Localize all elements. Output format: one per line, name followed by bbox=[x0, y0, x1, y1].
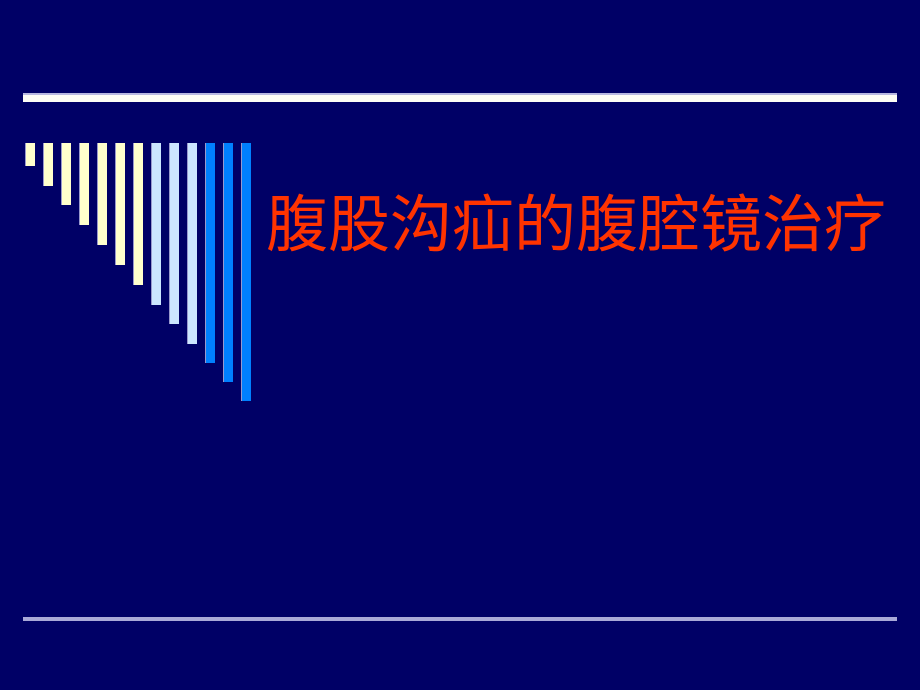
decoration-bar bbox=[115, 143, 125, 265]
decoration-bar bbox=[241, 143, 251, 401]
decoration-bar bbox=[43, 143, 53, 186]
decoration-bar bbox=[187, 143, 197, 344]
decoration-bar bbox=[223, 143, 233, 382]
decoration-bar bbox=[25, 143, 35, 166]
bottom-divider-rule bbox=[23, 617, 897, 621]
decoration-bar bbox=[205, 143, 215, 363]
presentation-slide: 腹股沟疝的腹腔镜治疗 bbox=[0, 0, 920, 690]
decoration-bar bbox=[169, 143, 179, 324]
title-block: 腹股沟疝的腹腔镜治疗 bbox=[266, 192, 906, 259]
decoration-bar bbox=[133, 143, 143, 285]
decoration-bar bbox=[97, 143, 107, 245]
decoration-bar bbox=[151, 143, 161, 305]
decoration-bar bbox=[79, 143, 89, 225]
decoration-bar bbox=[61, 143, 71, 205]
page-title: 腹股沟疝的腹腔镜治疗 bbox=[266, 192, 906, 259]
descending-bars-decoration bbox=[0, 0, 280, 420]
